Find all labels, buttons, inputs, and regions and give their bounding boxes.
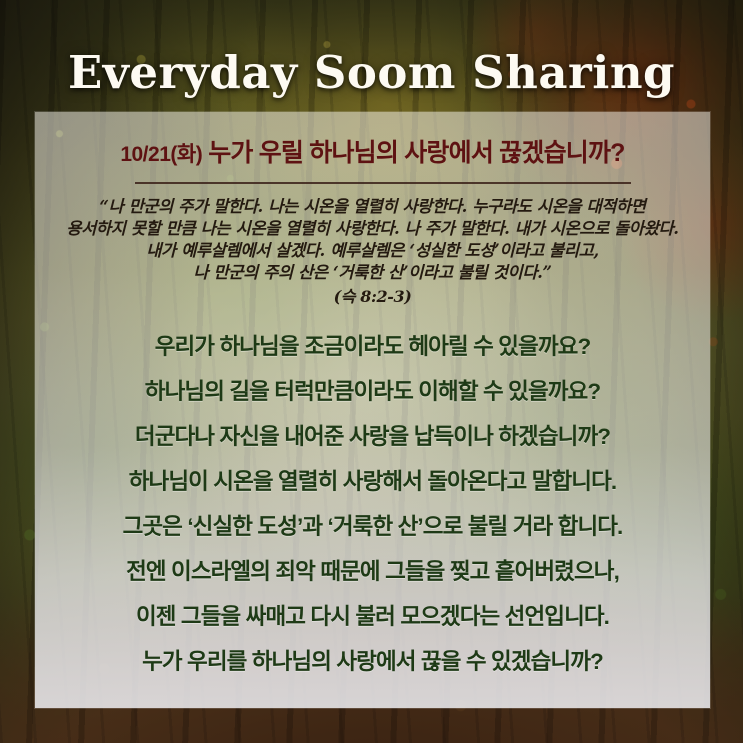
headline: 10/21(화)누가 우릴 하나님의 사랑에서 끊겠습니까?	[35, 133, 710, 169]
body-line: 우리가 하나님을 조금이라도 헤아릴 수 있을까요?	[35, 324, 710, 369]
quote-line: 용서하지 못할 만큼 나는 시온을 열렬히 사랑한다. 나 주가 말한다. 내가…	[35, 218, 710, 240]
body-line: 전엔 이스라엘의 죄악 때문에 그들을 찢고 흩어버렸으나,	[35, 549, 710, 594]
body-line: 그곳은 ‘신실한 도성’과 ‘거룩한 산’으로 불릴 거라 합니다.	[35, 504, 710, 549]
body-text: 우리가 하나님을 조금이라도 헤아릴 수 있을까요? 하나님의 길을 터럭만큼이…	[35, 324, 710, 684]
headline-date: 10/21(화)	[120, 143, 202, 166]
headline-text: 누가 우릴 하나님의 사랑에서 끊겠습니까?	[208, 139, 624, 167]
quote-line: 나 만군의 주의 산은 ‘거룩한 산’이라고 불릴 것이다.”	[35, 262, 710, 284]
quote-reference: (슥 8:2-3)	[35, 286, 710, 308]
body-line: 하나님이 시온을 열렬히 사랑해서 돌아온다고 말합니다.	[35, 459, 710, 504]
scripture-quote: “나 만군의 주가 말한다. 나는 시온을 열렬히 사랑한다. 누구라도 시온을…	[35, 196, 710, 308]
headline-divider	[135, 182, 631, 184]
page-title: Everyday Soom Sharing	[0, 46, 743, 99]
body-line: 하나님의 길을 터럭만큼이라도 이해할 수 있을까요?	[35, 369, 710, 414]
body-line: 누가 우리를 하나님의 사랑에서 끊을 수 있겠습니까?	[35, 639, 710, 684]
body-line: 더군다나 자신을 내어준 사랑을 납득이나 하겠습니까?	[35, 414, 710, 459]
devotional-card: Everyday Soom Sharing 10/21(화)누가 우릴 하나님의…	[0, 0, 743, 743]
quote-line: “나 만군의 주가 말한다. 나는 시온을 열렬히 사랑한다. 누구라도 시온을…	[35, 196, 710, 218]
quote-line: 내가 예루살렘에서 살겠다. 예루살렘은 ‘성실한 도성’이라고 불리고,	[35, 240, 710, 262]
body-line: 이젠 그들을 싸매고 다시 불러 모으겠다는 선언입니다.	[35, 594, 710, 639]
